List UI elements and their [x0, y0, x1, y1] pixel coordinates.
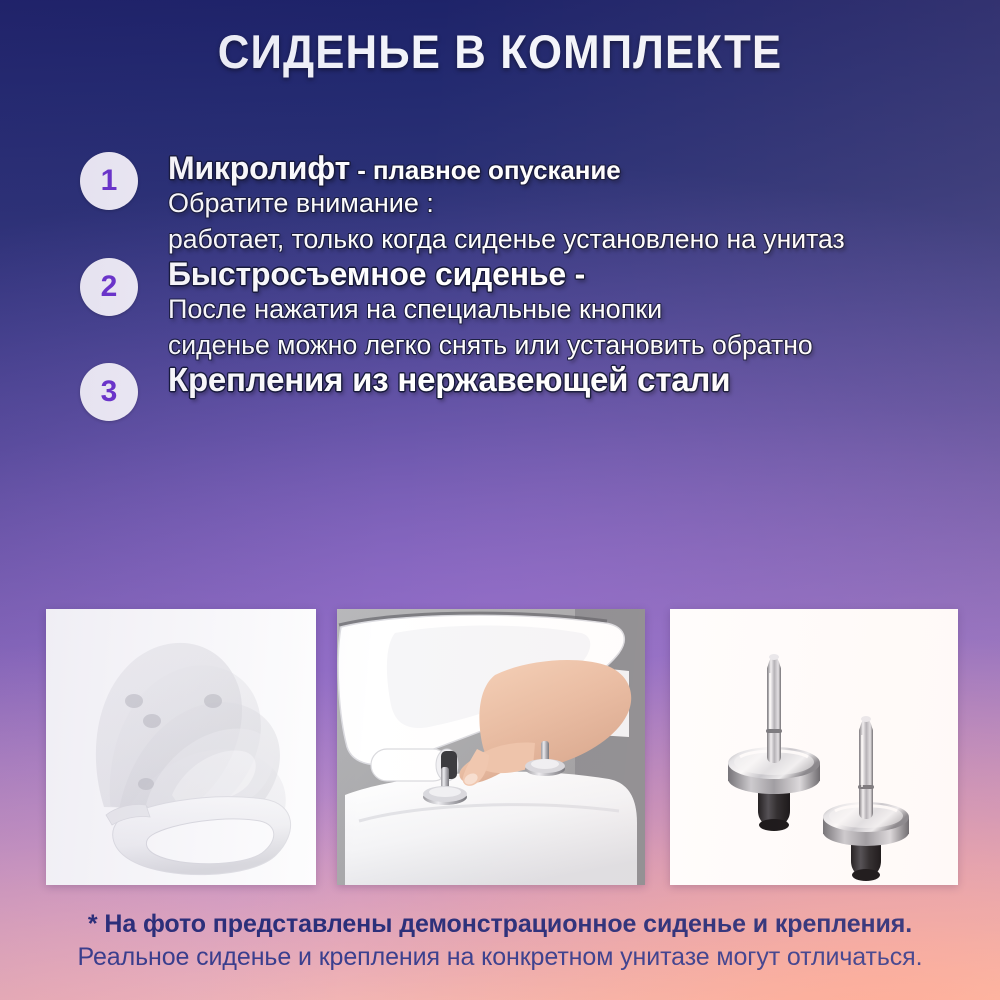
- feature-number-3: 3: [101, 377, 118, 407]
- feature-line-2-2: сиденье можно легко снять или установить…: [168, 328, 978, 364]
- feature-number-1: 1: [101, 166, 118, 196]
- feature-heading-1: Микролифт - плавное опускание: [168, 152, 990, 186]
- stainless-steel-fixings-illustration: [670, 609, 958, 885]
- feature-number-badge-1: 1: [80, 152, 138, 210]
- feature-heading-2: Быстросъемное сиденье -: [168, 258, 990, 292]
- photo-strip: [0, 609, 1000, 885]
- footnote-line-2: Реальное сиденье и крепления на конкретн…: [0, 941, 1000, 974]
- feature-item-3: 3 Крепления из нержавеющей стали: [0, 363, 1000, 423]
- feature-number-badge-3: 3: [80, 363, 138, 421]
- feature-body-1: Микролифт - плавное опускание Обратите в…: [168, 152, 1000, 258]
- page-title: СИДЕНЬЕ В КОМПЛЕКТЕ: [35, 28, 965, 75]
- toilet-seat-softclose-photo: [46, 609, 316, 885]
- feature-item-2: 2 Быстросъемное сиденье - После нажатия …: [0, 258, 1000, 364]
- feature-title-1: Микролифт: [168, 150, 350, 186]
- feature-number-2: 2: [101, 272, 118, 302]
- feature-number-badge-2: 2: [80, 258, 138, 316]
- feature-title-suffix-1: - плавное опускание: [350, 155, 621, 185]
- feature-line-1-1: Обратите внимание :: [168, 186, 990, 222]
- feature-body-3: Крепления из нержавеющей стали: [168, 363, 1000, 398]
- feature-list: 1 Микролифт - плавное опускание Обратите…: [0, 152, 1000, 423]
- footnote-line-1: * На фото представлены демонстрационное …: [0, 908, 1000, 941]
- feature-title-3: Крепления из нержавеющей стали: [168, 361, 730, 398]
- promo-poster: СИДЕНЬЕ В КОМПЛЕКТЕ 1 Микролифт - плавно…: [0, 0, 1000, 1000]
- quick-release-seat-illustration: [337, 609, 645, 885]
- feature-line-1-2: работает, только когда сиденье установле…: [168, 222, 978, 258]
- feature-line-2-1: После нажатия на специальные кнопки: [168, 292, 990, 328]
- feature-body-2: Быстросъемное сиденье - После нажатия на…: [168, 258, 1000, 364]
- feature-title-2: Быстросъемное сиденье -: [168, 256, 585, 292]
- footnote: * На фото представлены демонстрационное …: [0, 908, 1000, 973]
- quick-release-seat-photo: [337, 609, 645, 885]
- feature-item-1: 1 Микролифт - плавное опускание Обратите…: [0, 152, 1000, 258]
- stainless-steel-fixings-photo: [670, 609, 958, 885]
- toilet-seat-softclose-illustration: [46, 609, 316, 885]
- feature-heading-3: Крепления из нержавеющей стали: [168, 363, 990, 398]
